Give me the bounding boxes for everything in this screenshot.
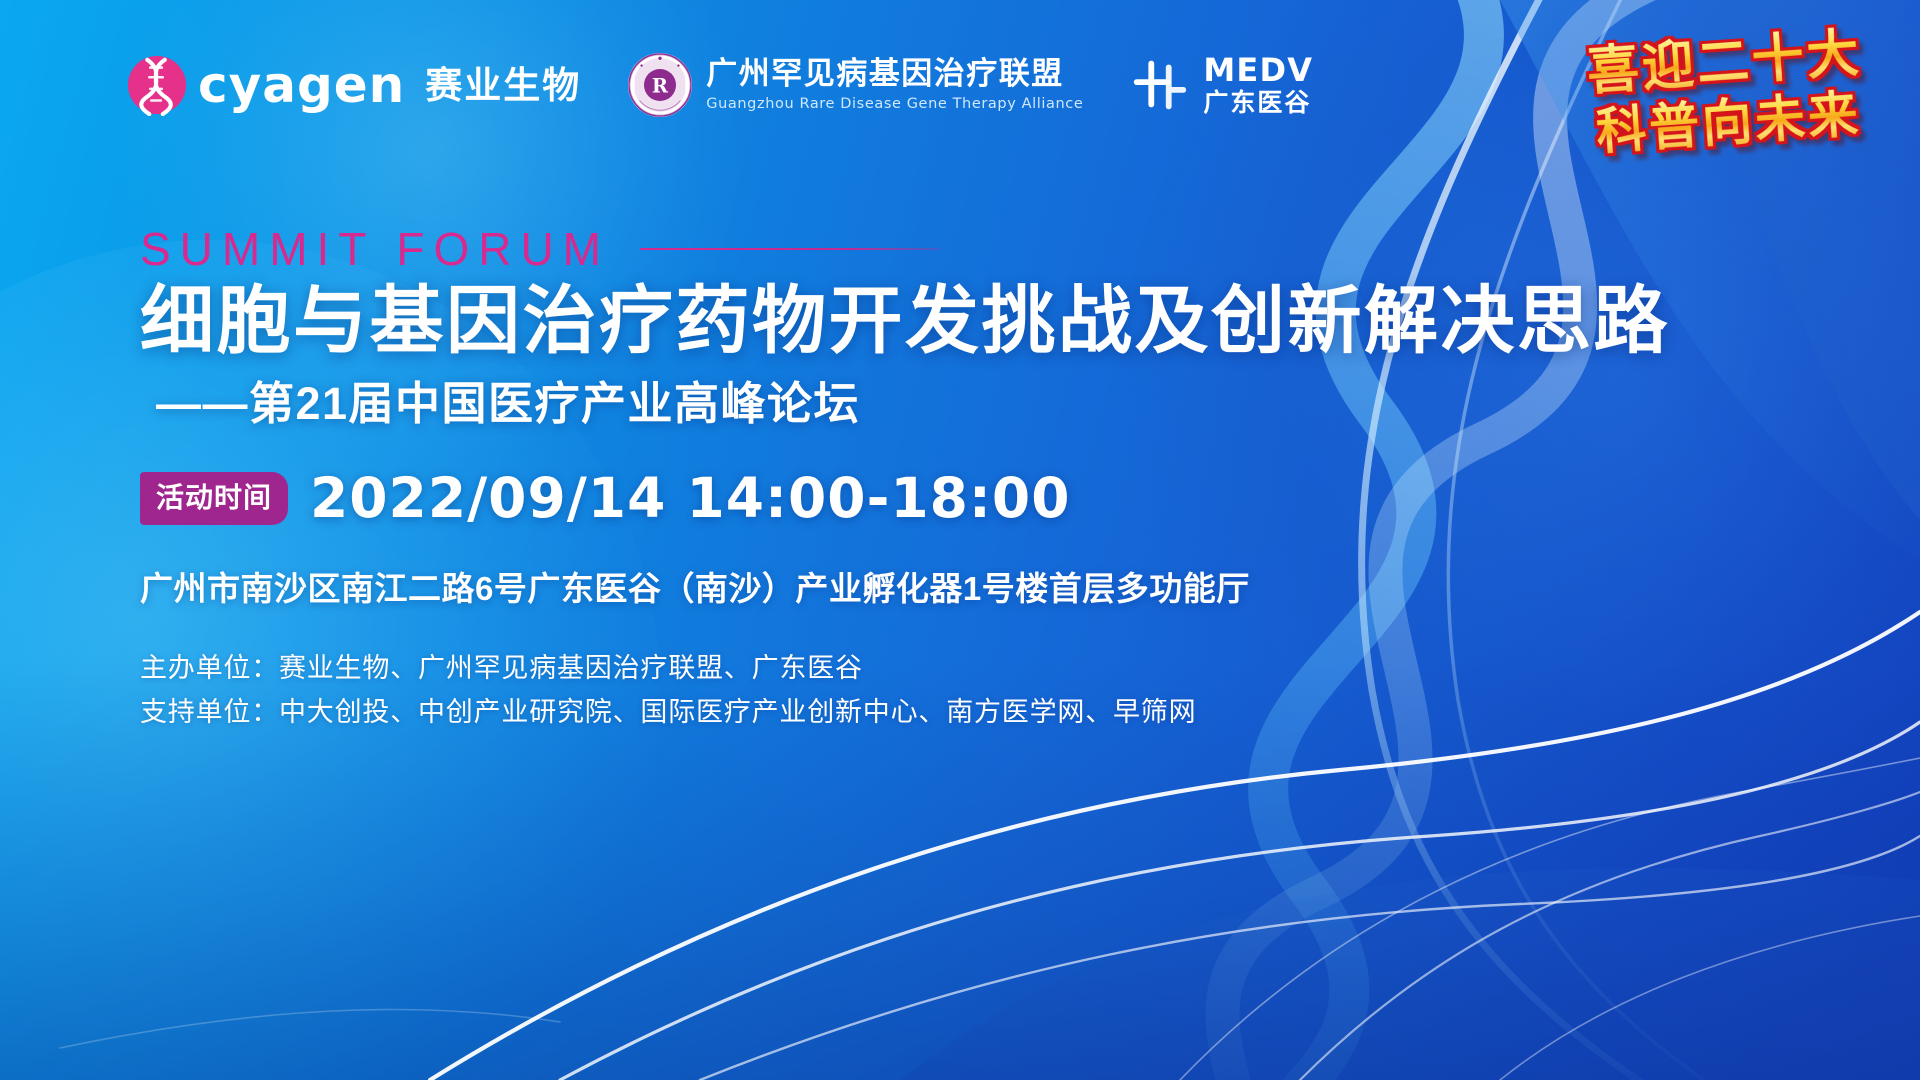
event-time-row: 活动时间 2022/09/14 14:00-18:00 <box>140 471 1570 526</box>
organizer-line-host: 主办单位：赛业生物、广州罕见病基因治疗联盟、广东医谷 <box>140 647 1570 691</box>
svg-text:R: R <box>652 74 669 97</box>
alliance-chinese-name: 广州罕见病基因治疗联盟 <box>706 57 1083 92</box>
medv-chinese-name: 广东医谷 <box>1203 90 1313 118</box>
cyagen-chinese-name: 赛业生物 <box>425 67 581 104</box>
eyebrow-label: SUMMIT FORUM <box>140 226 610 272</box>
event-time-badge: 活动时间 <box>140 472 288 525</box>
alliance-seal-icon: R <box>627 52 693 118</box>
cyagen-dna-mark-icon <box>126 54 188 116</box>
alliance-text-block: 广州罕见病基因治疗联盟 Guangzhou Rare Disease Gene … <box>706 57 1083 113</box>
page-subtitle: ——第21届中国医疗产业高峰论坛 <box>140 377 1570 431</box>
eyebrow-row: SUMMIT FORUM <box>140 226 1570 272</box>
event-time-value: 2022/09/14 14:00-18:00 <box>310 471 1070 526</box>
summit-forum-banner: cyagen 赛业生物 R 广州罕见病基因治疗联盟 <box>0 0 1920 1080</box>
campaign-slogan: 喜迎二十大 科普向未来 <box>1585 25 1868 162</box>
event-venue: 广州市南沙区南江二路6号广东医谷（南沙）产业孵化器1号楼首层多功能厅 <box>140 568 1570 611</box>
medv-cross-mark-icon <box>1129 54 1191 116</box>
medv-wordmark: MEDV <box>1203 53 1313 88</box>
page-title: 细胞与基因治疗药物开发挑战及创新解决思路 <box>140 280 1570 363</box>
logo-medv[interactable]: MEDV 广东医谷 <box>1129 53 1313 117</box>
organizers-block: 主办单位：赛业生物、广州罕见病基因治疗联盟、广东医谷 支持单位：中大创投、中创产… <box>140 647 1570 734</box>
medv-text-block: MEDV 广东医谷 <box>1203 53 1313 117</box>
logo-bar: cyagen 赛业生物 R 广州罕见病基因治疗联盟 <box>126 52 1313 118</box>
eyebrow-rule <box>640 248 940 250</box>
organizer-line-support: 支持单位：中大创投、中创产业研究院、国际医疗产业创新中心、南方医学网、早筛网 <box>140 691 1570 735</box>
main-content: SUMMIT FORUM 细胞与基因治疗药物开发挑战及创新解决思路 ——第21届… <box>140 226 1570 734</box>
alliance-english-name: Guangzhou Rare Disease Gene Therapy Alli… <box>706 96 1083 113</box>
cyagen-wordmark: cyagen <box>198 60 405 110</box>
logo-alliance[interactable]: R 广州罕见病基因治疗联盟 Guangzhou Rare Disease Gen… <box>627 52 1083 118</box>
logo-cyagen[interactable]: cyagen 赛业生物 <box>126 54 581 116</box>
